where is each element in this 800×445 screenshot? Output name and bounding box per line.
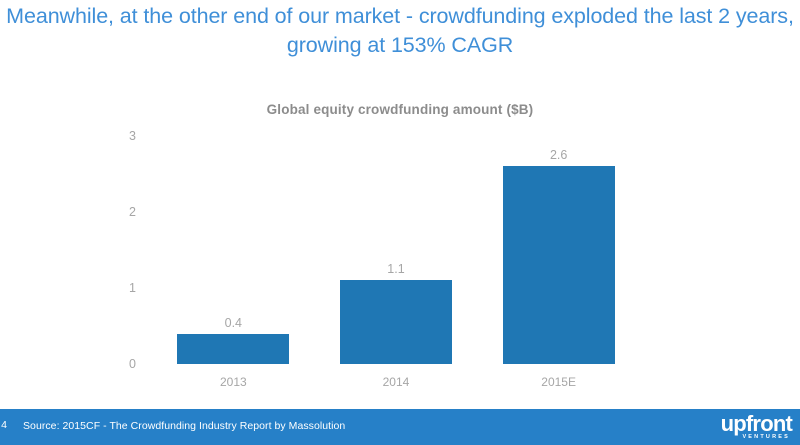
bar-group-2015E: 2.6 2015E [477,136,640,364]
x-axis-label-2013: 2013 [177,364,289,389]
bar-value-2014: 1.1 [340,262,452,280]
logo-subtext: VENTURES [700,434,792,441]
bar-2013[interactable]: 0.4 2013 [177,334,289,364]
bar-value-2015E: 2.6 [503,148,615,166]
bar-group-2013: 0.4 2013 [152,136,315,364]
chart-title: Global equity crowdfunding amount ($B) [0,102,800,117]
logo-wordmark: upfront [700,414,792,434]
upfront-ventures-logo: upfront VENTURES [700,414,792,442]
x-axis-label-2015E: 2015E [503,364,615,389]
bar-chart: Global equity crowdfunding amount ($B) 0… [0,92,800,402]
page-number: 4 [0,419,11,431]
y-axis-tick-2: 2 [129,205,136,219]
x-axis-label-2014: 2014 [340,364,452,389]
bar-value-2013: 0.4 [177,316,289,334]
bar-2014[interactable]: 1.1 2014 [340,280,452,364]
slide-footer: 4 Source: 2015CF - The Crowdfunding Indu… [0,409,800,445]
y-axis-tick-3: 3 [129,129,136,143]
y-axis-tick-1: 1 [129,281,136,295]
chart-plot-area: 0 1 2 3 0.4 2013 1.1 2014 2.6 2015 [152,136,640,364]
slide-title: Meanwhile, at the other end of our marke… [0,2,800,60]
bar-2015E[interactable]: 2.6 2015E [503,166,615,364]
source-note: Source: 2015CF - The Crowdfunding Indust… [23,420,345,432]
bar-series: 0.4 2013 1.1 2014 2.6 2015E [152,136,640,364]
y-axis-tick-0: 0 [129,357,136,371]
bar-group-2014: 1.1 2014 [315,136,478,364]
